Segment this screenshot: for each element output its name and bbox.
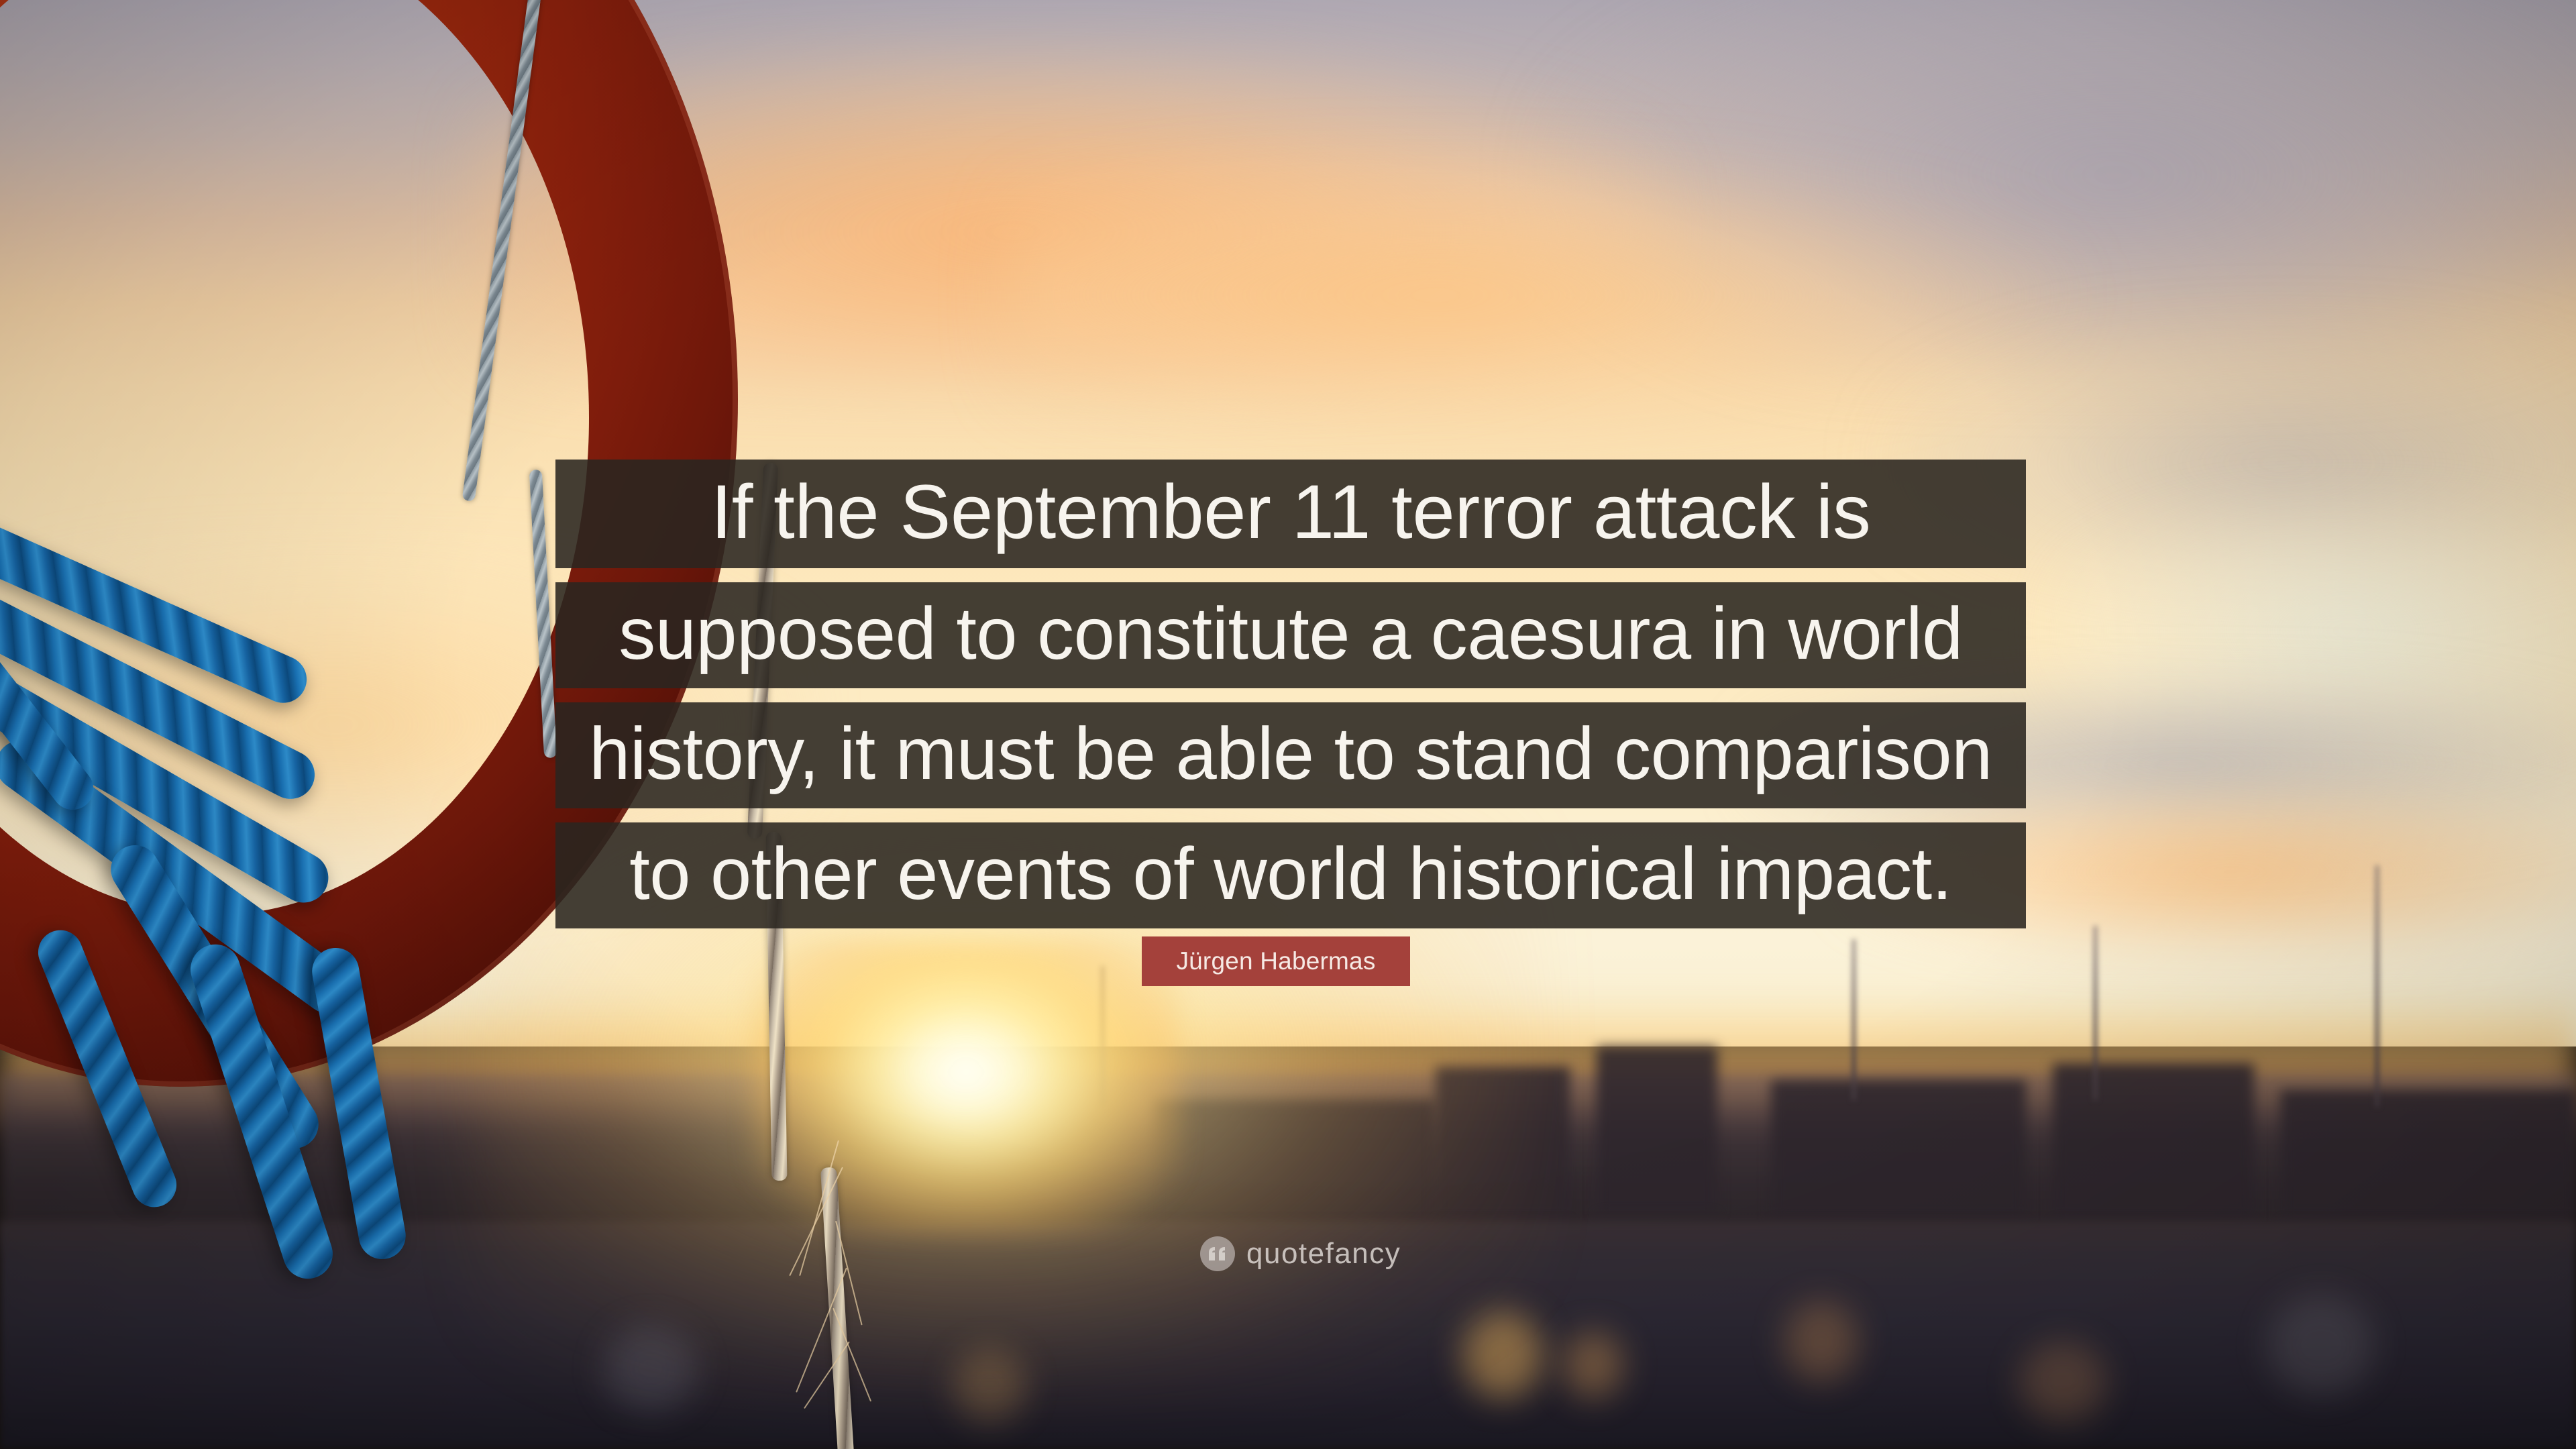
quote-line-1: If the September 11 terror attack is <box>555 460 2026 568</box>
bokeh-light <box>1563 1332 1623 1399</box>
author-name: Jürgen Habermas <box>1176 947 1375 975</box>
sailboat-mast <box>2375 865 2379 1107</box>
sun-core <box>751 939 1181 1234</box>
city-building <box>2281 1090 2576 1221</box>
city-building <box>1597 1046 1717 1214</box>
quote-marks-icon <box>1200 1236 1235 1271</box>
bokeh-light <box>2267 1295 2375 1395</box>
sailboat-mast <box>1851 939 1856 1100</box>
quote-line-4: to other events of world historical impa… <box>555 822 2026 928</box>
quote-text-block: If the September 11 terror attack is sup… <box>555 460 2026 943</box>
quote-line-3: history, it must be able to stand compar… <box>555 702 2026 808</box>
author-badge: Jürgen Habermas <box>1142 936 1410 986</box>
wallpaper-canvas: If the September 11 terror attack is sup… <box>0 0 2576 1449</box>
rope-frays <box>828 1140 916 1429</box>
sailboat-mast <box>2093 926 2098 1100</box>
quotefancy-wordmark: quotefancy <box>1246 1239 1401 1269</box>
city-building <box>1771 1080 2026 1221</box>
quotefancy-logo[interactable]: quotefancy <box>1200 1236 1401 1271</box>
bokeh-light <box>2019 1342 2106 1422</box>
bokeh-light <box>1784 1301 1858 1382</box>
quote-line-2: supposed to constitute a caesura in worl… <box>555 582 2026 688</box>
city-building <box>2053 1063 2254 1221</box>
